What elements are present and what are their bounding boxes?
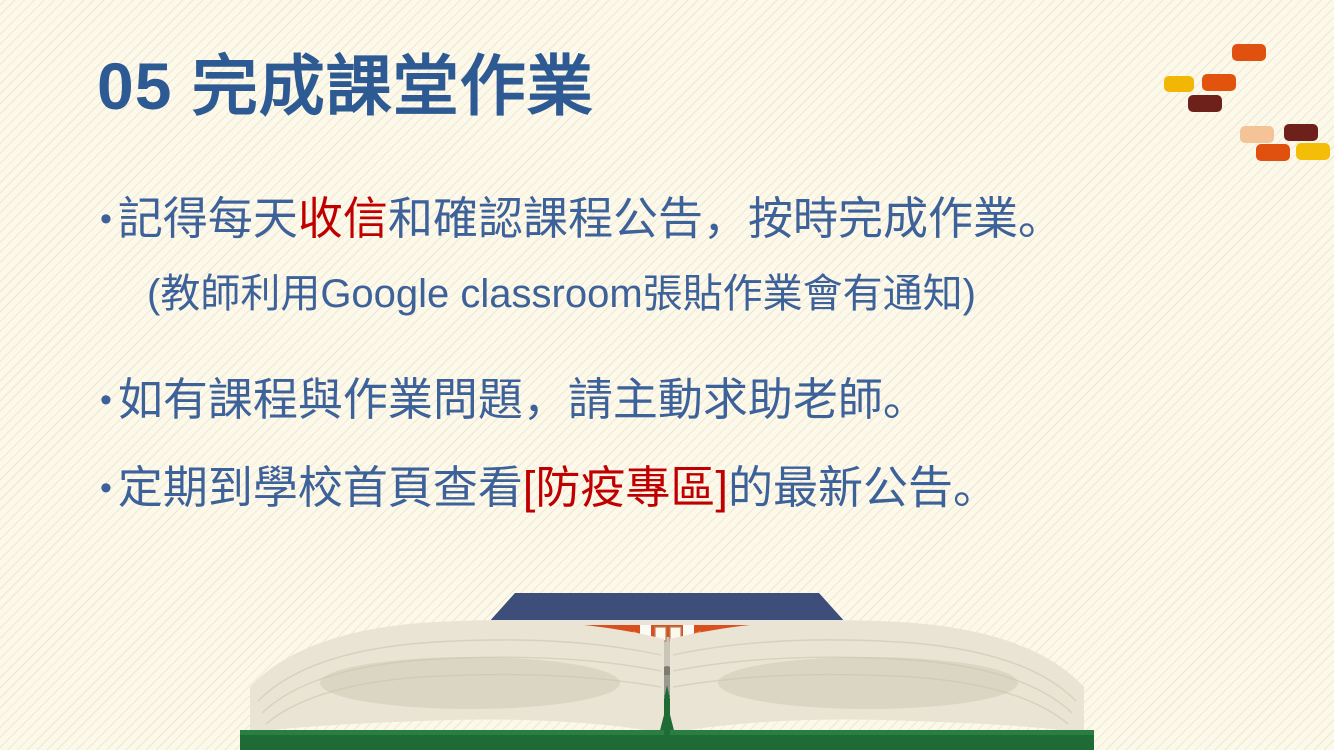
bullet-3-segment-3: 的最新公告。: [728, 462, 998, 513]
page-title: 05 完成課堂作業: [97, 49, 594, 125]
brick-yellow-bottom: [1296, 143, 1330, 160]
bullet-text-1: 記得每天收信和確認課程公告，按時完成作業。: [118, 196, 1063, 241]
bullet-item-3: • 定期到學校首頁查看[防疫專區]的最新公告。: [100, 465, 1220, 510]
bullet-item-1: • 記得每天收信和確認課程公告，按時完成作業。: [100, 196, 1220, 241]
bullet-marker-icon: •: [100, 383, 112, 417]
building-roof: [488, 593, 846, 623]
school-on-open-book-illustration: [0, 575, 1334, 750]
brick-orange-top: [1232, 44, 1266, 61]
bullet-1-segment-3: 和確認課程公告，按時完成作業。: [388, 193, 1063, 244]
bullet-marker-icon: •: [100, 471, 112, 505]
brick-darkred-lower: [1188, 95, 1222, 112]
bullet-3-highlight: [防疫專區]: [523, 462, 728, 513]
sub-note-text: (教師利用Google classroom張貼作業會有通知): [147, 274, 1220, 314]
brick-orange-bottom: [1256, 144, 1290, 161]
bullet-1-highlight: 收信: [298, 193, 388, 244]
slide-canvas: 05 完成課堂作業 • 記得每天收信和確認課程公告，按時完成作業。 (教師利用G…: [0, 0, 1334, 750]
bullet-3-segment-1: 定期到學校首頁查看: [118, 462, 523, 513]
bullet-marker-icon: •: [100, 202, 112, 236]
body-content: • 記得每天收信和確認課程公告，按時完成作業。 (教師利用Google clas…: [100, 196, 1220, 510]
brick-yellow-left: [1164, 76, 1194, 92]
brick-darkred-right: [1284, 124, 1318, 141]
brick-peach-right: [1240, 126, 1274, 143]
brick-orange-mid: [1202, 74, 1236, 91]
brick-cluster-decoration: [1160, 38, 1334, 163]
bullet-text-2: 如有課程與作業問題，請主動求助老師。: [118, 377, 928, 422]
bullet-item-2: • 如有課程與作業問題，請主動求助老師。: [100, 377, 1220, 422]
bullet-1-segment-1: 記得每天: [118, 193, 298, 244]
bullet-text-3: 定期到學校首頁查看[防疫專區]的最新公告。: [118, 465, 998, 510]
